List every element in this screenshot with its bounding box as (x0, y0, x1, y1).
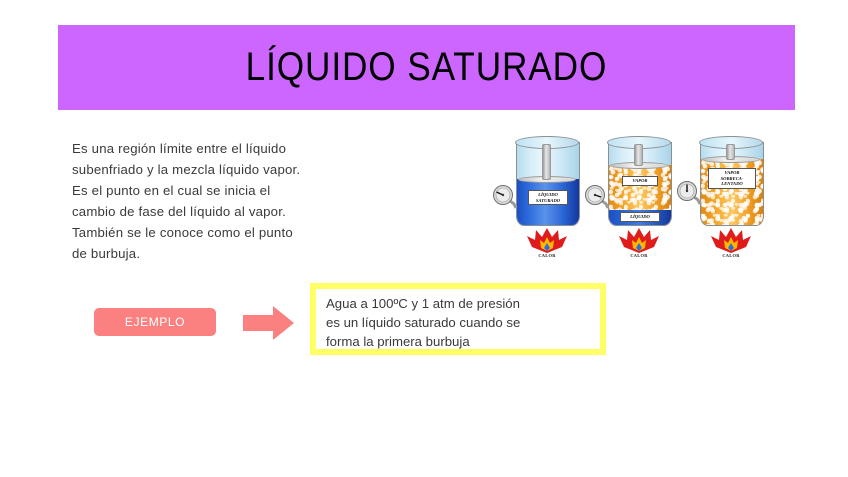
right-arrow-icon (243, 304, 295, 342)
example-callout-box: Agua a 100ºC y 1 atm de presión es un lí… (310, 283, 606, 355)
definition-line: Es el punto en el cual se inicia el (72, 180, 392, 201)
piston-cylinder-diagram: LÍQUIDO SATURADO CALOR (490, 128, 810, 273)
definition-line: de burbuja. (72, 243, 392, 264)
ejemplo-button[interactable]: EJEMPLO (94, 308, 216, 336)
vessel-plaque: VAPOR SOBRECA- LENTADO (708, 168, 756, 189)
title-banner: LÍQUIDO SATURADO (58, 25, 795, 110)
pressure-gauge-icon (492, 184, 520, 215)
callout-line: es un líquido saturado cuando se (326, 313, 598, 332)
definition-line: cambio de fase del líquido al vapor. (72, 201, 392, 222)
vessel-vapor-sobrecalentado: VAPOR SOBRECA- LENTADO CALOR (692, 136, 770, 246)
callout-line: Agua a 100ºC y 1 atm de presión (326, 294, 598, 313)
example-callout-text: Agua a 100ºC y 1 atm de presión es un lí… (326, 294, 598, 351)
vessel-mezcla-liquido-vapor: VAPOR LÍQUIDO CALOR (600, 136, 678, 246)
heat-label: CALOR (527, 253, 567, 258)
definition-line: subenfriado y la mezcla líquido vapor. (72, 159, 392, 180)
piston-rod (634, 144, 643, 166)
pressure-gauge-icon (584, 184, 612, 215)
definition-line: Es una región límite entre el líquido (72, 138, 392, 159)
heat-label: CALOR (619, 253, 659, 258)
definition-line: También se le conoce como el punto (72, 222, 392, 243)
piston-rod (542, 144, 551, 180)
heat-label: CALOR (711, 253, 751, 258)
vessel-liquido-saturado: LÍQUIDO SATURADO CALOR (508, 136, 586, 246)
vessel-plaque: LÍQUIDO SATURADO (528, 190, 568, 205)
page-title: LÍQUIDO SATURADO (246, 45, 608, 90)
callout-line: forma la primera burbuja (326, 332, 598, 351)
definition-paragraph: Es una región límite entre el líquido su… (72, 138, 392, 264)
pressure-gauge-icon (676, 180, 704, 211)
vessel-plaque-secondary: LÍQUIDO (620, 212, 660, 222)
ejemplo-button-label: EJEMPLO (125, 315, 185, 329)
vessel-plaque: VAPOR (622, 176, 658, 186)
piston-rod (726, 144, 735, 160)
